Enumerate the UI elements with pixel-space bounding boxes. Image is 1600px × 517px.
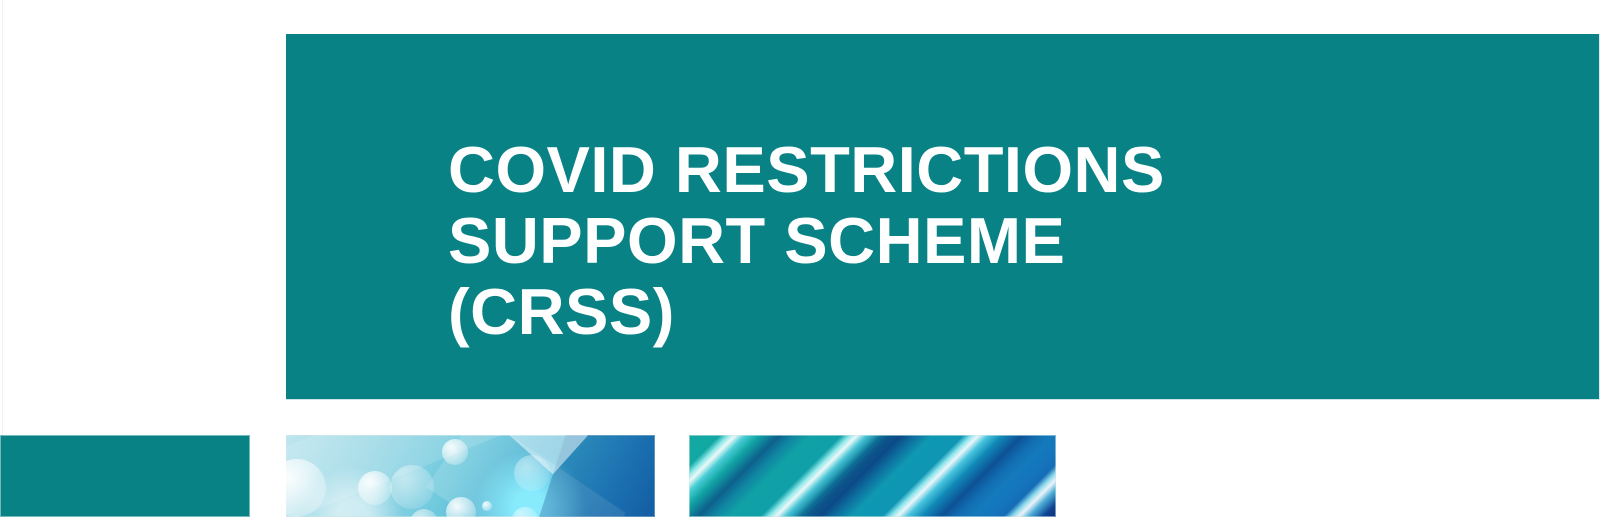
page-edge-divider — [2, 0, 3, 440]
page-root: COVID Restrictions Support Scheme (CRSS) — [0, 0, 1600, 517]
bokeh-circle — [358, 471, 392, 505]
page-title: COVID Restrictions Support Scheme (CRSS) — [448, 134, 1488, 347]
bokeh-circle — [390, 465, 434, 509]
bokeh-circle — [482, 501, 492, 511]
bokeh-circle — [514, 455, 550, 491]
thumbnail-abstract-diagonal-streaks-image[interactable] — [689, 435, 1056, 517]
bokeh-circle — [410, 509, 438, 517]
thumbnail-solid-teal-block[interactable] — [0, 435, 250, 517]
hero-banner: COVID Restrictions Support Scheme (CRSS) — [286, 34, 1600, 400]
bokeh-circle — [442, 439, 468, 465]
thumbnail-abstract-bokeh-image[interactable] — [286, 435, 655, 517]
